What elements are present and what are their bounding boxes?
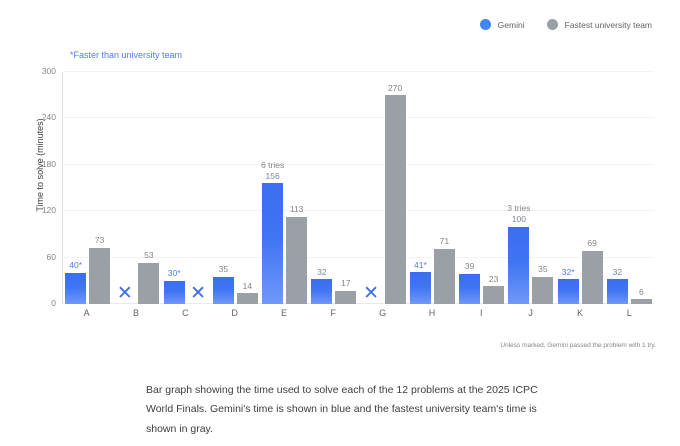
bar-slot-gemini: 35 — [213, 72, 234, 304]
bar-gemini: 30* — [164, 281, 185, 304]
bar-university-team: 71 — [434, 249, 455, 304]
bar-university-team: 17 — [335, 291, 356, 304]
bar-university-team: 73 — [89, 248, 110, 304]
x-axis-label-i: I — [457, 308, 506, 318]
bar-university-team: 113 — [286, 217, 307, 304]
bar-slot-university-team: 17 — [335, 72, 356, 304]
chart-legend: Gemini Fastest university team — [480, 19, 652, 30]
bar-university-team: 53 — [138, 263, 159, 304]
no-solve-x-icon: ✕ — [117, 284, 133, 303]
bar-group: ✕270 — [359, 72, 408, 304]
bar-slot-university-team: 6 — [631, 72, 652, 304]
bar-gemini: 3 tries100 — [508, 227, 529, 304]
y-axis-tick: 180 — [42, 159, 56, 169]
bar-slot-gemini: 6 tries156 — [262, 72, 283, 304]
bar-slot-gemini: 32* — [558, 72, 579, 304]
tries-note: 3 tries — [507, 203, 530, 214]
bar-group: 30*✕ — [162, 72, 211, 304]
bar-value-label: 73 — [95, 235, 104, 246]
x-axis-label-c: C — [161, 308, 210, 318]
bar-slot-gemini: 39 — [459, 72, 480, 304]
x-axis-label-j: J — [506, 308, 555, 318]
legend-item-university-team: Fastest university team — [547, 19, 652, 30]
tries-note: 6 tries — [261, 160, 284, 171]
bar-value-label: 17 — [341, 278, 350, 289]
bar-group: 326 — [605, 72, 654, 304]
bar-value-label: 32* — [562, 267, 575, 278]
x-axis-label-f: F — [309, 308, 358, 318]
bar-slot-gemini: 41* — [410, 72, 431, 304]
legend-label-university-team: Fastest university team — [565, 20, 652, 30]
legend-swatch-gemini — [480, 19, 491, 30]
bar-group: 3923 — [457, 72, 506, 304]
bar-gemini: 32* — [558, 279, 579, 304]
bar-university-team: 270 — [385, 95, 406, 304]
bar-groups: 40*73✕5330*✕35146 tries1561133217✕27041*… — [63, 72, 654, 304]
bar-slot-gemini: 3 tries100 — [508, 72, 529, 304]
bar-value-label: 53 — [144, 250, 153, 261]
x-axis-label-k: K — [555, 308, 604, 318]
bar-gemini: 32 — [607, 279, 628, 304]
bar-slot-university-team: 69 — [582, 72, 603, 304]
bar-group: 3217 — [309, 72, 358, 304]
x-axis-label-a: A — [62, 308, 111, 318]
bar-gemini: 40* — [65, 273, 86, 304]
bar-group: 40*73 — [63, 72, 112, 304]
x-axis-labels: ABCDEFGHIJKL — [62, 308, 654, 318]
bar-university-team: 23 — [483, 286, 504, 304]
plot-area: 060120180240300 40*73✕5330*✕35146 tries1… — [62, 72, 654, 304]
bar-slot-university-team: 35 — [532, 72, 553, 304]
no-solve-x-icon: ✕ — [363, 284, 379, 303]
bar-gemini: 35 — [213, 277, 234, 304]
bar-value-label: 6 — [639, 287, 644, 298]
bar-slot-university-team: ✕ — [188, 72, 209, 304]
bar-slot-gemini: 32 — [607, 72, 628, 304]
bar-slot-gemini: ✕ — [114, 72, 135, 304]
bar-slot-university-team: 73 — [89, 72, 110, 304]
bar-slot-university-team: 270 — [385, 72, 406, 304]
x-axis-label-g: G — [358, 308, 407, 318]
legend-label-gemini: Gemini — [498, 20, 525, 30]
bar-group: 3 tries10035 — [506, 72, 555, 304]
bar-gemini: 39 — [459, 274, 480, 304]
bar-value-label: 23 — [489, 274, 498, 285]
bar-group: ✕53 — [112, 72, 161, 304]
bar-value-label: 113 — [290, 204, 304, 215]
x-axis-label-b: B — [111, 308, 160, 318]
bar-value-label: 14 — [243, 281, 252, 292]
bar-university-team: 69 — [582, 251, 603, 304]
bar-gemini: 6 tries156 — [262, 183, 283, 304]
bar-slot-university-team: 113 — [286, 72, 307, 304]
bar-value-label: 71 — [440, 236, 449, 247]
bar-value-label: 69 — [587, 238, 596, 249]
y-axis-tick: 60 — [47, 252, 56, 262]
bar-group: 32*69 — [556, 72, 605, 304]
y-axis-tick: 0 — [51, 298, 56, 308]
bar-group: 41*71 — [408, 72, 457, 304]
bar-value-label: 30* — [168, 268, 181, 279]
legend-swatch-university-team — [547, 19, 558, 30]
bar-value-label: 32 — [317, 267, 326, 278]
bar-group: 6 tries156113 — [260, 72, 309, 304]
bar-slot-university-team: 14 — [237, 72, 258, 304]
bar-group: 3514 — [211, 72, 260, 304]
x-axis-label-e: E — [259, 308, 308, 318]
bar-value-label: 6 tries156 — [261, 160, 284, 181]
bar-value-label: 270 — [388, 83, 402, 94]
x-axis-label-d: D — [210, 308, 259, 318]
x-axis-label-h: H — [407, 308, 456, 318]
bar-value-label: 39 — [465, 261, 474, 272]
y-axis-tick: 120 — [42, 205, 56, 215]
bar-gemini: 32 — [311, 279, 332, 304]
figure-caption: Bar graph showing the time used to solve… — [146, 381, 554, 439]
bar-slot-gemini: 32 — [311, 72, 332, 304]
bar-slot-gemini: 40* — [65, 72, 86, 304]
bar-slot-university-team: 71 — [434, 72, 455, 304]
bar-value-label: 32 — [613, 267, 622, 278]
bar-slot-university-team: 23 — [483, 72, 504, 304]
bar-university-team: 35 — [532, 277, 553, 304]
bar-value-label: 41* — [414, 260, 427, 271]
bar-chart: Time to solve (minutes) 060120180240300 … — [22, 72, 654, 324]
no-solve-x-icon: ✕ — [190, 284, 206, 303]
bar-slot-gemini: 30* — [164, 72, 185, 304]
bar-university-team: 14 — [237, 293, 258, 304]
x-axis-label-l: L — [605, 308, 654, 318]
y-axis-tick: 240 — [42, 112, 56, 122]
bar-value-label: 3 tries100 — [507, 203, 530, 224]
chart-footnote: Unless marked, Gemini passed the problem… — [500, 342, 656, 349]
bar-slot-gemini: ✕ — [361, 72, 382, 304]
bar-value-label: 40* — [69, 260, 82, 271]
bar-value-label: 35 — [538, 264, 547, 275]
bar-gemini: 41* — [410, 272, 431, 304]
bar-university-team: 6 — [631, 299, 652, 304]
legend-item-gemini: Gemini — [480, 19, 525, 30]
y-axis-tick: 300 — [42, 66, 56, 76]
bar-slot-university-team: 53 — [138, 72, 159, 304]
faster-than-team-note: *Faster than university team — [70, 50, 182, 60]
bar-value-label: 35 — [219, 264, 228, 275]
